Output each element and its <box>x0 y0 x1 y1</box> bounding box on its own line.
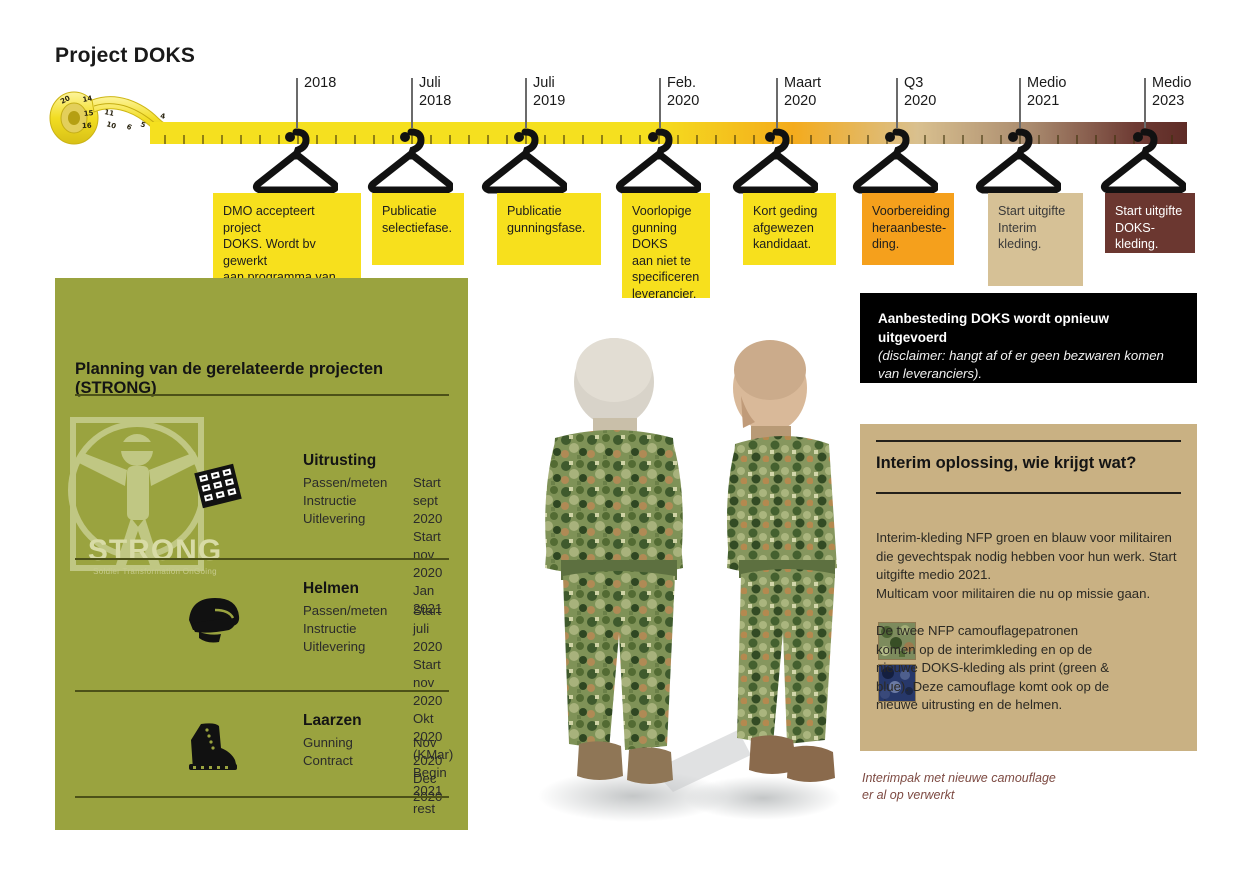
interim-divider-bottom <box>876 492 1181 494</box>
milestone-stem <box>776 78 778 128</box>
page-title: Project DOKS <box>55 44 195 68</box>
milestone-date-label: Juli 2019 <box>533 74 565 110</box>
milestone-note-card: Kort geding afgewezen kandidaat. <box>743 193 836 265</box>
milestone-note-card: DMO accepteert project DOKS. Wordt bv ge… <box>213 193 361 288</box>
helmet-icon <box>185 590 241 646</box>
milestone-stem <box>1144 78 1146 128</box>
svg-text:15: 15 <box>83 109 94 118</box>
clothes-hanger-icon <box>732 128 818 194</box>
svg-text:11: 11 <box>104 108 115 118</box>
strong-divider-1 <box>75 558 449 560</box>
milestone-stem <box>1019 78 1021 128</box>
strong-logo-tagline: Soldier Transformation OnGoing <box>67 567 243 576</box>
milestone-note-card: Start uitgifte Interim kleding. <box>988 193 1083 286</box>
milestone-stem <box>296 78 298 128</box>
disclaimer-box: Aanbesteding DOKS wordt opnieuw uitgevoe… <box>860 293 1197 383</box>
infographic-canvas: Project DOKS 20 14 15 16 11 10 6 5 <box>0 0 1250 884</box>
milestone-note-card: Publicatie selectiefase. <box>372 193 464 265</box>
milestone-date-label: Medio 2023 <box>1152 74 1192 110</box>
disclaimer-headline: Aanbesteding DOKS wordt opnieuw uitgevoe… <box>878 309 1179 347</box>
svg-text:5: 5 <box>139 120 146 129</box>
strong-divider-3 <box>75 796 449 798</box>
photo-caption: Interimpak met nieuwe camouflage er al o… <box>862 770 1056 804</box>
strong-logo-wordmark: STRONG <box>67 534 243 568</box>
svg-text:4: 4 <box>160 112 166 121</box>
milestone-note-card: Publicatie gunningsfase. <box>497 193 601 265</box>
milestone-date-label: Feb. 2020 <box>667 74 699 110</box>
clothes-hanger-icon <box>1100 128 1186 194</box>
strong-planning-panel: Planning van de gerelateerde projecten (… <box>55 278 468 830</box>
soldiers-photo <box>483 330 883 830</box>
strong-panel-title: Planning van de gerelateerde projecten (… <box>75 360 468 398</box>
boot-icon <box>185 718 241 774</box>
milestone-note-card: Start uitgifte DOKS-kleding. <box>1105 193 1195 253</box>
svg-text:10: 10 <box>105 120 117 130</box>
clothes-hanger-icon <box>615 128 701 194</box>
milestone-stem <box>659 78 661 128</box>
svg-text:14: 14 <box>82 94 93 104</box>
disclaimer-text: (disclaimer: hangt af of er geen bezware… <box>878 347 1179 383</box>
swatch-description: De twee NFP camouflagepatronen komen op … <box>876 622 1141 715</box>
equipment-icon <box>190 458 246 514</box>
milestone-date-label: Juli 2018 <box>419 74 451 110</box>
milestone-date-label: Maart 2020 <box>784 74 821 110</box>
clothes-hanger-icon <box>367 128 453 194</box>
block-labels: Passen/meten Instructie Uitlevering <box>303 474 387 528</box>
strong-title-divider <box>75 394 449 396</box>
block-values: Start sept 2020 Start nov 2020 Jan 2021 <box>413 474 442 618</box>
interim-panel-title: Interim oplossing, wie krijgt wat? <box>876 454 1136 473</box>
milestone-date-label: Medio 2021 <box>1027 74 1067 110</box>
interim-solution-panel: Interim oplossing, wie krijgt wat? Inter… <box>860 424 1197 751</box>
svg-text:6: 6 <box>125 123 133 132</box>
block-heading: Uitrusting <box>303 452 376 470</box>
milestone-date-label: Q3 2020 <box>904 74 936 110</box>
block-heading: Helmen <box>303 580 359 598</box>
clothes-hanger-icon <box>252 128 338 194</box>
milestone-stem <box>896 78 898 128</box>
milestone-date-label: 2018 <box>304 74 336 92</box>
milestone-note-card: Voorbereiding heraanbeste- ding. <box>862 193 954 265</box>
milestone-stem <box>525 78 527 128</box>
interim-divider-top <box>876 440 1181 442</box>
interim-panel-body: Interim-kleding NFP groen en blauw voor … <box>876 529 1186 603</box>
block-heading: Laarzen <box>303 712 362 730</box>
svg-text:16: 16 <box>82 122 92 130</box>
clothes-hanger-icon <box>481 128 567 194</box>
clothes-hanger-icon <box>852 128 938 194</box>
milestone-note-card: Voorlopige gunning DOKS aan niet te spec… <box>622 193 710 298</box>
clothes-hanger-icon <box>975 128 1061 194</box>
strong-divider-2 <box>75 690 449 692</box>
block-labels: Passen/meten Instructie Uitlevering <box>303 602 387 656</box>
milestone-stem <box>411 78 413 128</box>
block-labels: Gunning Contract <box>303 734 353 770</box>
